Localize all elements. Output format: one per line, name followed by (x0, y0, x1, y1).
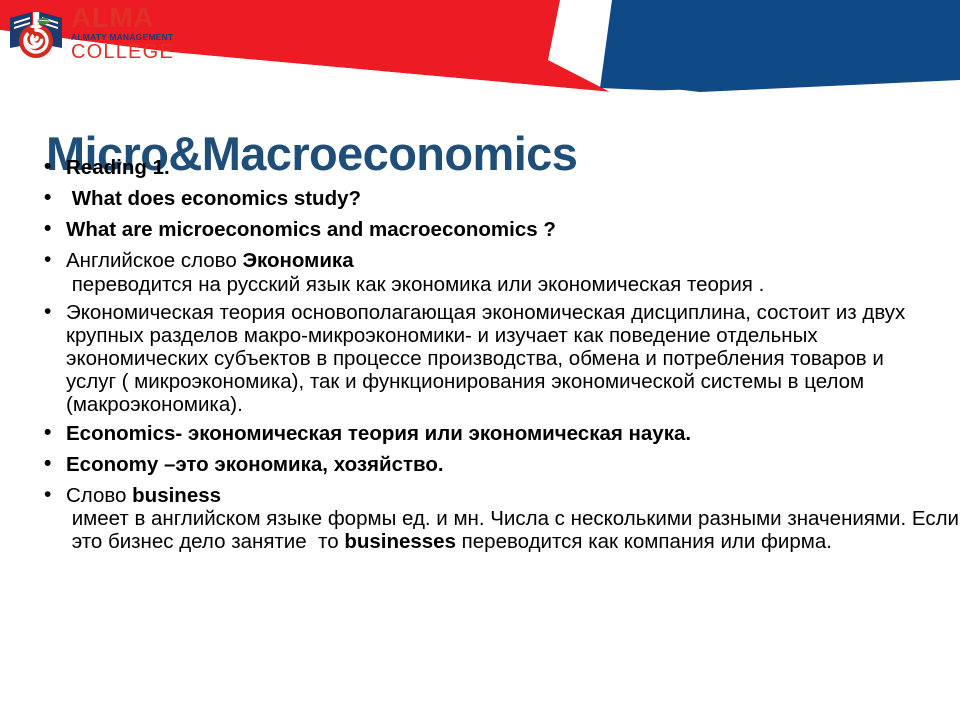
emphasis-text: business (132, 484, 221, 507)
bullet-reading-1: Reading 1. (36, 156, 926, 179)
emphasis-text: What does economics study? (66, 187, 361, 210)
bullet-economics-term: Economics- экономическая теория или экон… (36, 422, 926, 445)
bullet-business-word-forms: Слово business имеет в английском языке … (36, 484, 926, 553)
bullet-economic-theory-definition: Экономическая теория основополагающая эк… (36, 301, 926, 417)
logo-college-text: COLLEGE (71, 42, 174, 62)
slide-body-bullet-list: Reading 1. What does economics study?Wha… (36, 156, 926, 558)
emphasis-text: Economics- экономическая теория или экон… (66, 422, 691, 445)
emphasis-text: Reading 1. (66, 156, 170, 179)
emphasis-text: businesses (344, 530, 456, 553)
emphasis-text: Экономика (242, 249, 353, 272)
bullet-what-are-micro-macro: What are microeconomics and macroeconomi… (36, 218, 926, 241)
logo-wordmark: ALMA ALMATY MANAGEMENT COLLEGE (71, 4, 174, 63)
logo-subtitle-text: ALMATY MANAGEMENT (71, 33, 173, 42)
alma-college-logo: ALMA ALMATY MANAGEMENT COLLEGE (6, 2, 196, 64)
emphasis-text: Economy –это экономика, хозяйство. (66, 453, 444, 476)
presentation-slide: ALMA ALMATY MANAGEMENT COLLEGE Micro&Mac… (0, 0, 960, 720)
bullet-what-does-economics-study: What does economics study? (36, 187, 926, 210)
bullet-english-word-economics: Английское слово Экономика переводится н… (36, 249, 926, 295)
logo-alma-text: ALMA (71, 4, 154, 32)
bullet-economy-term: Economy –это экономика, хозяйство. (36, 453, 926, 476)
emphasis-text: What are microeconomics and macroeconomi… (66, 218, 556, 241)
alma-book-apple-logo-icon (6, 4, 66, 62)
